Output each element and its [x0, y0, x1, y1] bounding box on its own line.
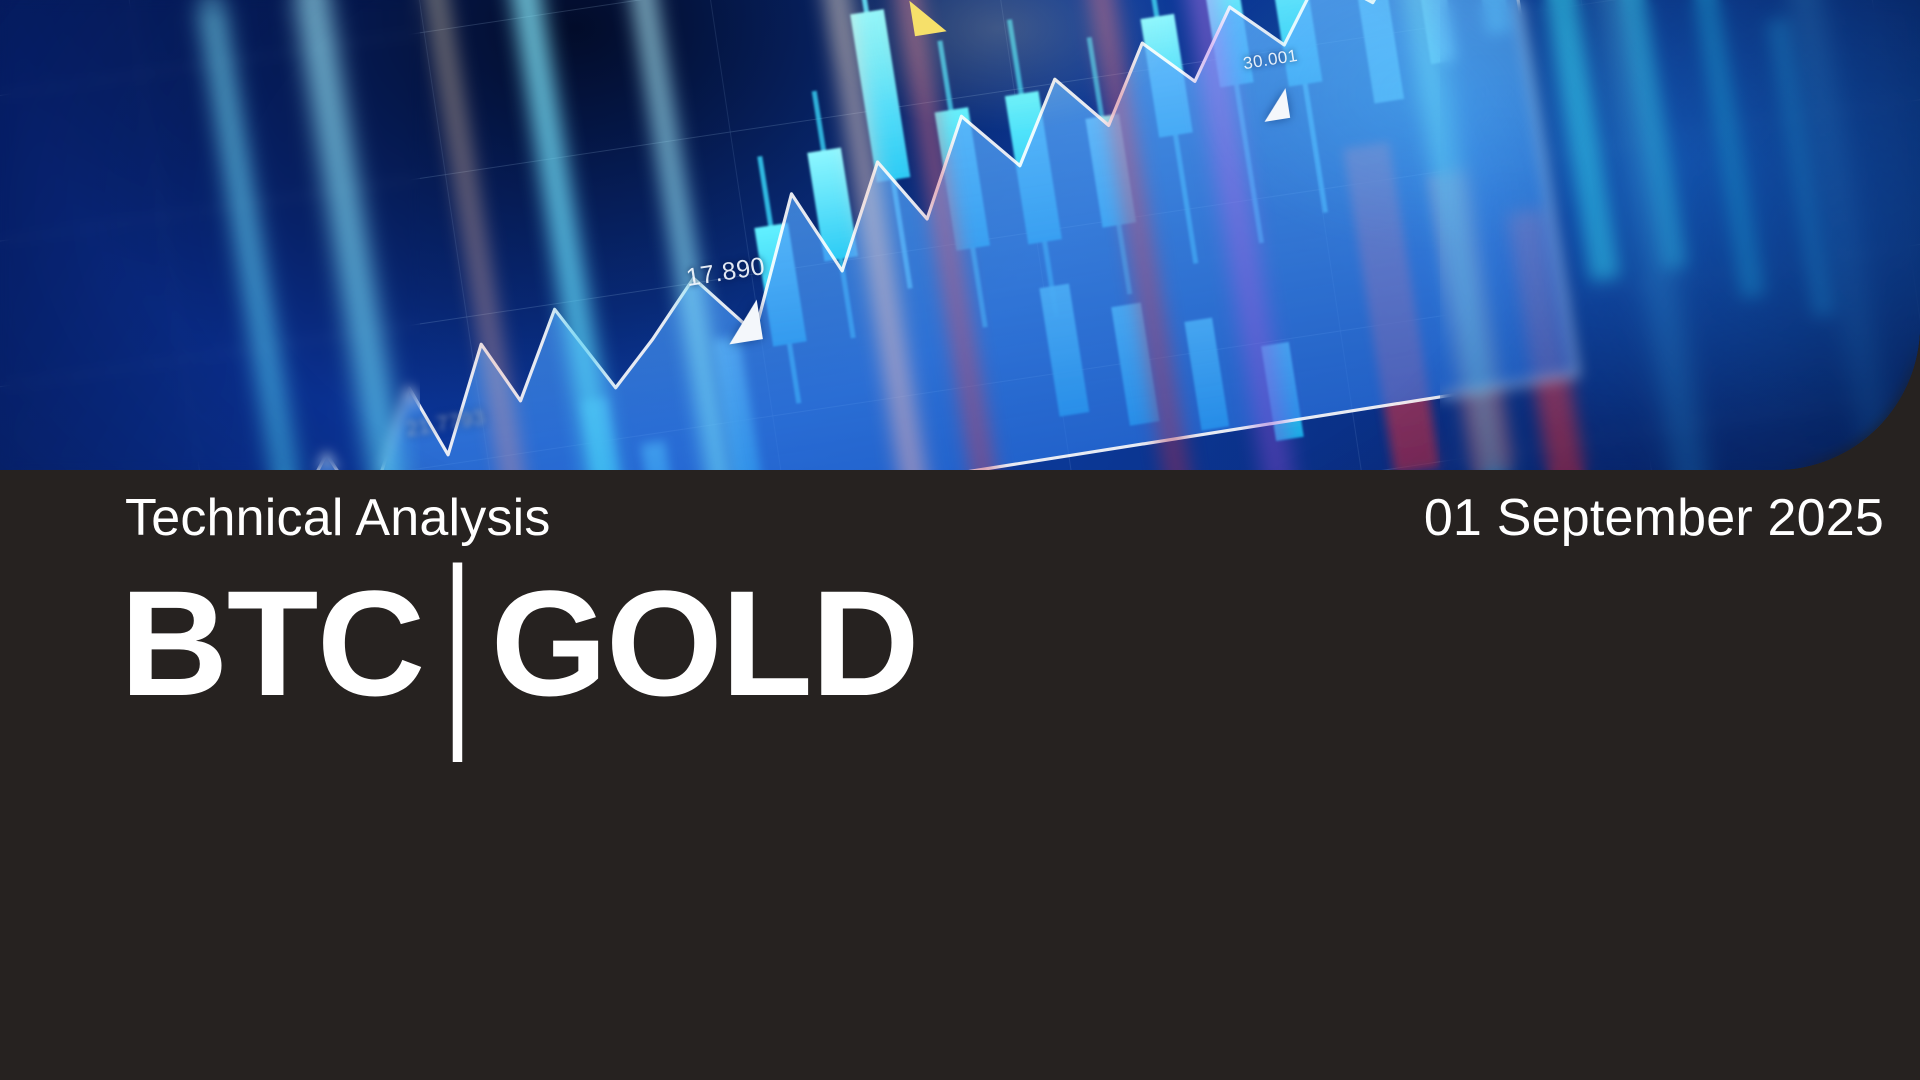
page-title: BTC | GOLD — [120, 568, 918, 718]
publication-date: 01 September 2025 — [1424, 492, 1884, 544]
yellow-triangle-marker — [909, 0, 946, 36]
area-line-chart — [0, 0, 1920, 470]
headline-asset-gold: GOLD — [491, 568, 918, 718]
meta-row: Technical Analysis 01 September 2025 — [125, 492, 1884, 544]
slide-root: 17.890 30.001 21.7793 Technical Analysis… — [0, 0, 1920, 1080]
title-block: Technical Analysis 01 September 2025 BTC… — [0, 470, 1920, 1080]
white-triangle-marker — [1260, 88, 1290, 122]
white-triangle-marker — [723, 300, 763, 345]
hero-image: 17.890 30.001 21.7793 — [0, 0, 1920, 470]
headline-separator: | — [442, 537, 472, 750]
headline-asset-btc: BTC — [120, 568, 424, 718]
kicker-label: Technical Analysis — [125, 492, 551, 544]
